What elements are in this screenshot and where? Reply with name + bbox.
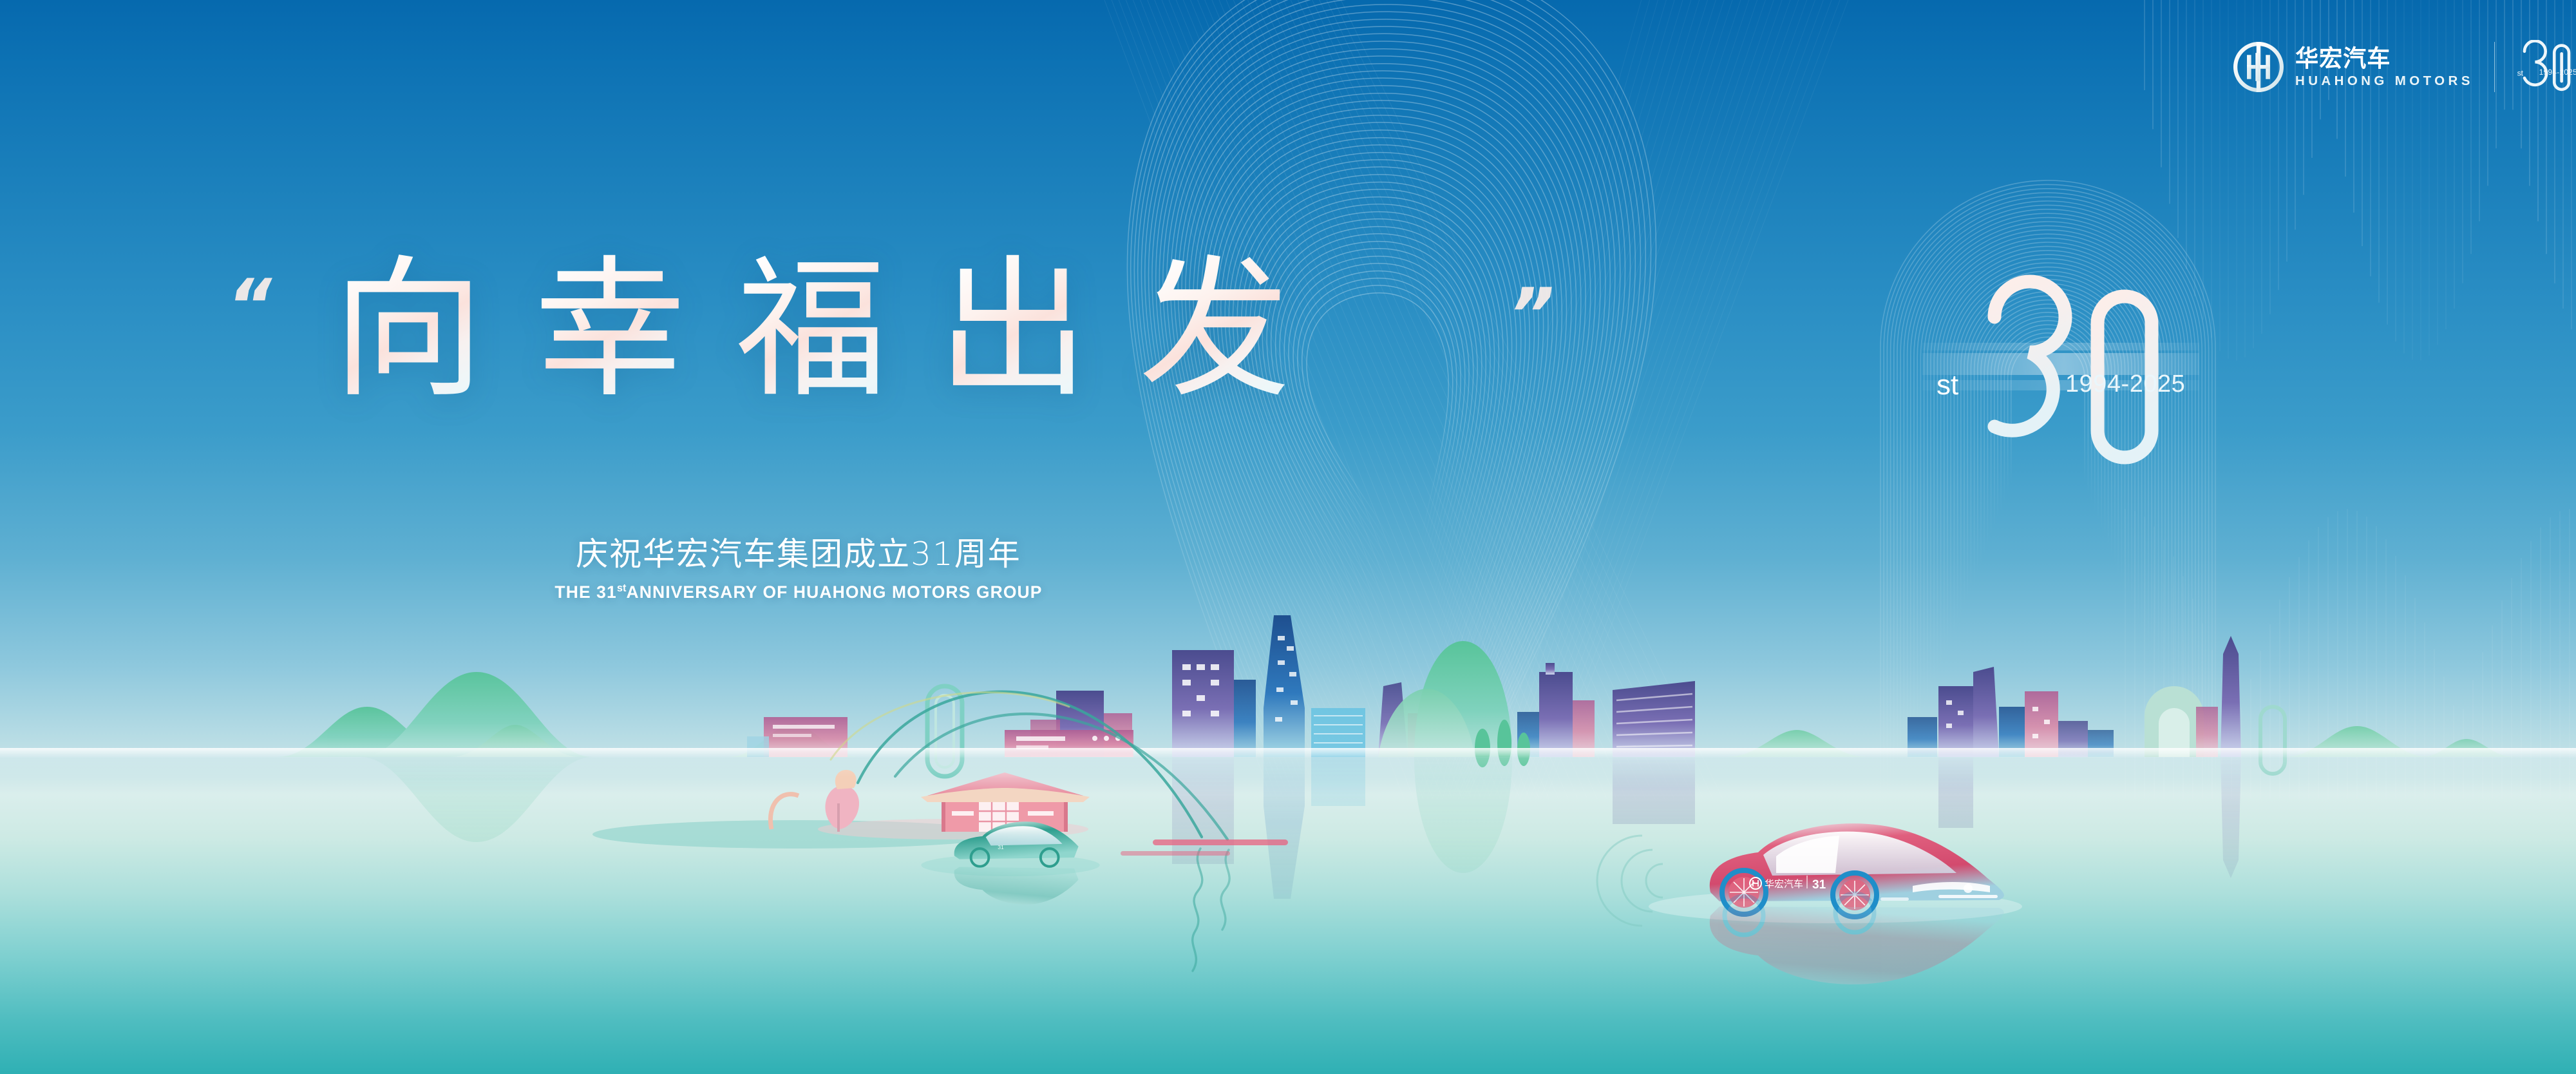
brand-logo-lockup[interactable]: 华宏汽车 HUAHONG MOTORS st 1994-2025: [2233, 40, 2576, 94]
headline-char-3: 福: [736, 254, 887, 406]
poster-canvas: 华宏汽车 HUAHONG MOTORS st 1994-2025 “ 向 幸 福…: [0, 0, 2576, 1074]
city-skyline-illustration: 31: [0, 610, 2576, 1074]
subtitle-cn: 庆祝华宏汽车集团成立31周年: [0, 535, 1597, 573]
red-car-hero: 华宏汽车 31: [1597, 823, 2022, 984]
badge-ordinal-small: st: [2517, 69, 2523, 78]
subtitle-en-after: ANNIVERSARY OF HUAHONG MOTORS GROUP: [626, 582, 1042, 602]
brand-wordmark: 华宏汽车 HUAHONG MOTORS: [2295, 46, 2474, 88]
green-car-decal: 31: [998, 844, 1004, 850]
brand-name-en: HUAHONG MOTORS: [2295, 75, 2474, 88]
car-halo-rings: [1597, 836, 1663, 926]
car-decal-brand: 华宏汽车: [1765, 878, 1803, 890]
headline-char-4: 出: [938, 254, 1089, 406]
badge-years-small: 1994-2025: [2539, 68, 2576, 77]
headline-char-5: 发: [1139, 254, 1291, 406]
quote-open-mark: “: [220, 270, 280, 342]
logo-divider: [2494, 42, 2495, 92]
anniversary-badge-small: st 1994-2025: [2510, 40, 2576, 94]
headline-block: “ 向 幸 福 出 发 ”: [0, 254, 1597, 406]
subtitle-en: THE 31stANNIVERSARY OF HUAHONG MOTORS GR…: [0, 582, 1597, 602]
headline-characters: “ 向 幸 福 出 发 ”: [0, 254, 1597, 406]
huahong-circle-h-emblem-icon: [2233, 42, 2284, 92]
subtitle-en-ordinal: st: [617, 582, 627, 594]
brand-name-cn: 华宏汽车: [2295, 46, 2418, 72]
car-decal-number: 31: [1812, 878, 1826, 892]
subtitle-en-before: THE 31: [554, 582, 616, 602]
main-city-cluster: [1005, 615, 1695, 767]
subtitle-block: 庆祝华宏汽车集团成立31周年 THE 31stANNIVERSARY OF HU…: [0, 535, 1597, 602]
badge-years-large: 1994-2025: [2065, 370, 2185, 398]
headline-char-1: 向: [333, 254, 484, 406]
badge-ordinal-large: st: [1937, 369, 1958, 401]
quote-close-mark: ”: [1501, 279, 1560, 351]
headline-char-2: 幸: [535, 254, 686, 406]
brand-name-cn-text: 华宏汽车: [2295, 46, 2391, 72]
anniversary-badge-large: st 1994-2025: [1922, 258, 2199, 470]
